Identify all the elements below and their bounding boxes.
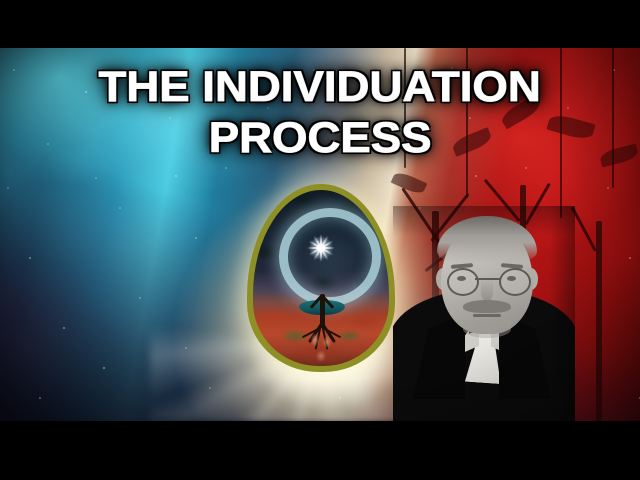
eyeglass-lens-right (499, 268, 531, 296)
letterbox-bar-bottom (0, 421, 640, 480)
video-thumbnail: THE INDIVIDUATION PROCESS (0, 0, 640, 480)
tree-silhouette (596, 221, 602, 421)
portrait-mustache (463, 300, 511, 313)
portrait-mouth (473, 314, 501, 317)
fern-silhouette (612, 48, 614, 188)
fern-frond (546, 112, 595, 142)
mandala-star-icon (307, 234, 335, 262)
carl-jung-portrait (393, 206, 575, 421)
mandala-cosmic-egg (247, 184, 395, 372)
portrait-chin (463, 320, 511, 338)
letterbox-bar-top (0, 0, 640, 48)
mandala-figure-motif (307, 330, 337, 362)
mandala-interior (253, 190, 389, 366)
portrait-nose (481, 280, 493, 302)
portrait-hair (437, 216, 537, 264)
eyeglass-lens-left (447, 268, 479, 296)
thumbnail-artwork (0, 48, 640, 421)
fern-frond (599, 144, 640, 168)
